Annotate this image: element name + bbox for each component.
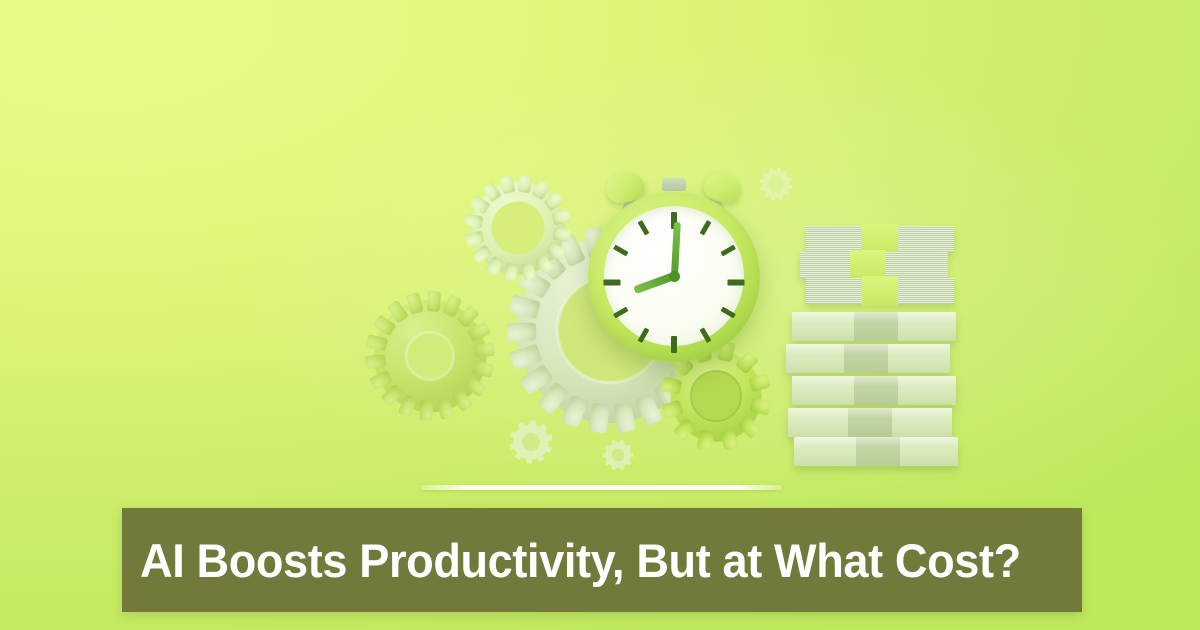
clock-face (604, 206, 744, 346)
clock-minute-hand (671, 222, 681, 276)
poster-canvas: AI Boosts Productivity, But at What Cost… (0, 0, 1200, 630)
clock-tick-11 (637, 220, 649, 235)
gear-small-bottom-left (505, 416, 557, 468)
bundle-highlight (788, 408, 952, 418)
clock-tick-9 (604, 280, 621, 286)
bundle-highlight (792, 312, 956, 322)
bundle-highlight (792, 376, 956, 386)
clock-tick-3 (728, 280, 745, 286)
gear-top-center (449, 159, 586, 296)
clock-tick-7 (637, 327, 649, 342)
clock-tick-10 (613, 245, 628, 257)
money-band (862, 276, 898, 306)
clock-case (588, 192, 760, 362)
page-title: AI Boosts Productivity, But at What Cost… (140, 537, 1021, 584)
cash-bundle-flat-5 (794, 437, 958, 466)
clock-tick-8 (613, 307, 628, 319)
bundle-highlight (786, 344, 950, 354)
cash-bundle-banded-1 (806, 226, 954, 252)
clock-tick-5 (699, 327, 711, 342)
cash-bundle-banded-3 (806, 278, 954, 304)
cash-bundle-flat-4 (788, 408, 952, 437)
title-banner: AI Boosts Productivity, But at What Cost… (122, 508, 1082, 612)
cash-bundle-flat-3 (792, 376, 956, 405)
alarm-top-button (662, 178, 686, 191)
divider (420, 485, 782, 490)
clock-tick-2 (720, 245, 735, 257)
clock-hub (669, 271, 680, 282)
bundle-highlight (794, 437, 958, 447)
cash-stack (792, 222, 972, 452)
clock-tick-4 (720, 307, 735, 319)
clock-tick-1 (699, 220, 711, 235)
clock-tick-6 (671, 336, 677, 353)
cash-bundle-flat-1 (792, 312, 956, 341)
cash-bundle-banded-2 (800, 252, 948, 278)
gear-left-large (353, 279, 507, 433)
cash-bundle-flat-2 (786, 344, 950, 373)
alarm-clock (578, 162, 768, 362)
